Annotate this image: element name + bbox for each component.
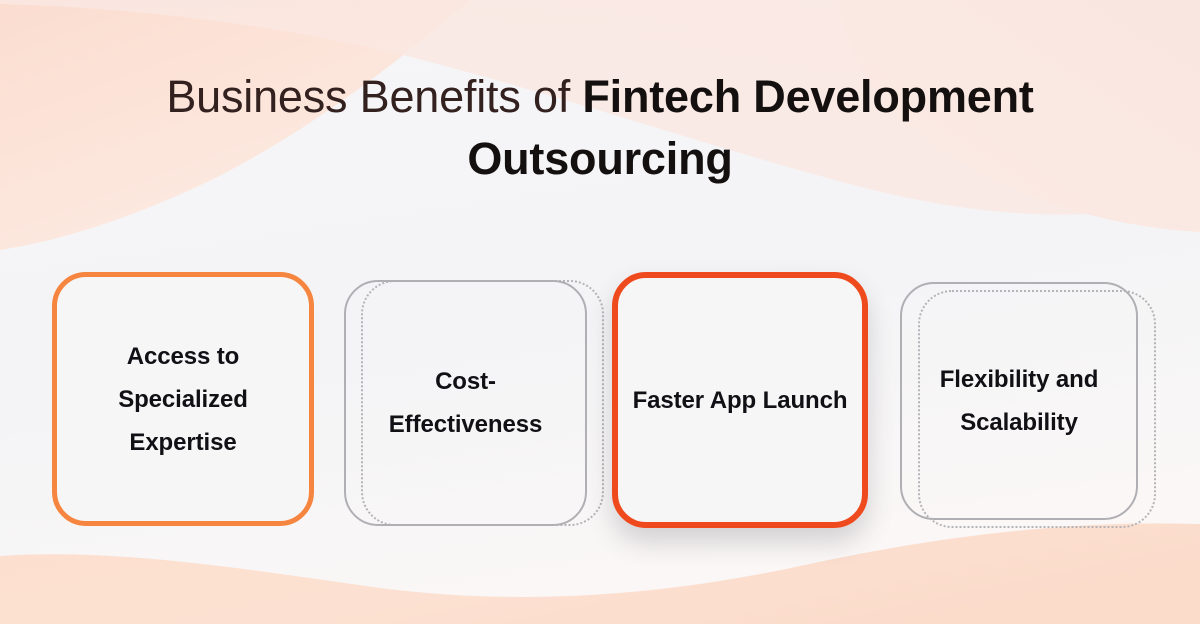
page-title-bold-part: Fintech Development [582, 71, 1033, 122]
page-title-line-2: Outsourcing [0, 128, 1200, 190]
infographic-canvas: Business Benefits of Fintech Development… [0, 0, 1200, 624]
benefit-card-label: Access to Specialized Expertise [57, 335, 309, 464]
card-face[interactable]: Flexibility and Scalability [900, 282, 1138, 520]
benefit-card-faster-app-launch[interactable]: Faster App Launch [612, 272, 876, 534]
page-title: Business Benefits of Fintech Development… [0, 66, 1200, 190]
card-face[interactable]: Faster App Launch [612, 272, 868, 528]
page-title-light-part: Business Benefits of [166, 71, 582, 122]
benefit-card-label: Cost-Effectiveness [346, 360, 585, 446]
card-face[interactable]: Cost-Effectiveness [344, 280, 587, 526]
benefit-card-flexibility-and-scalability[interactable]: Flexibility and Scalability [900, 272, 1164, 534]
benefit-card-label: Faster App Launch [619, 379, 862, 422]
page-title-line-1: Business Benefits of Fintech Development [0, 66, 1200, 128]
benefit-card-label: Flexibility and Scalability [902, 358, 1136, 444]
benefit-card-cost-effectiveness[interactable]: Cost-Effectiveness [344, 272, 608, 534]
card-face[interactable]: Access to Specialized Expertise [52, 272, 314, 526]
benefit-card-access-to-specialized-expertise[interactable]: Access to Specialized Expertise [52, 272, 316, 528]
